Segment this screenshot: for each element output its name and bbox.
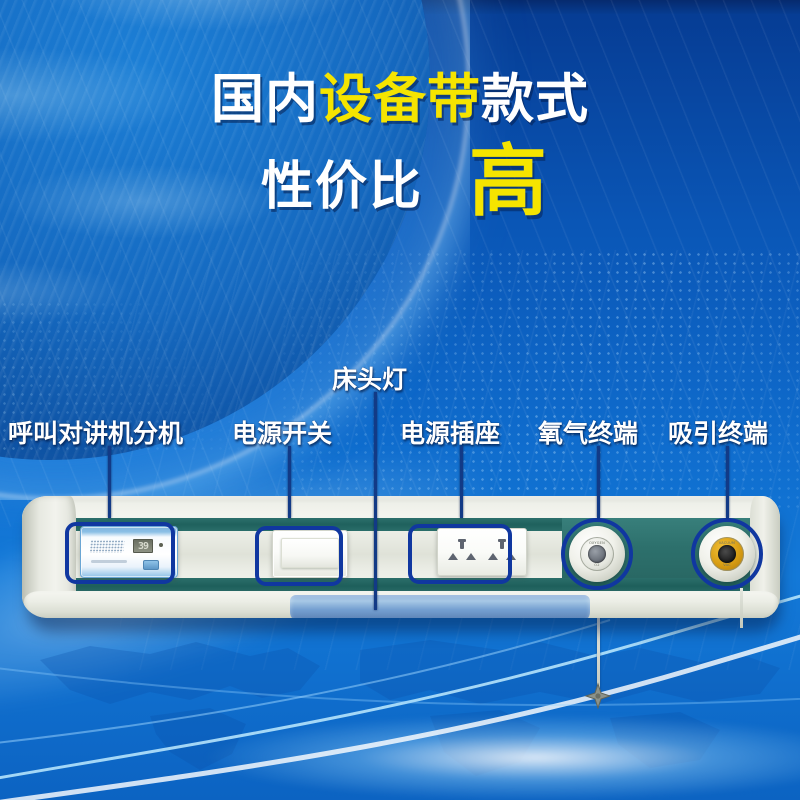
callout-label-power-outlet: 电源插座 <box>400 414 500 450</box>
leader-line-suction <box>726 446 729 518</box>
banner-stage: 国内设备带款式 性价比 高 呼叫对讲机分机 电源开关 床头灯 电源插座 氧气终端… <box>0 0 800 800</box>
callout-label-oxygen: 氧气终端 <box>538 414 638 450</box>
callout-label-power-switch: 电源开关 <box>232 414 332 450</box>
leader-line-intercom <box>108 446 111 518</box>
callout-label-intercom: 呼叫对讲机分机 <box>8 414 183 450</box>
callout-layer: 呼叫对讲机分机 电源开关 床头灯 电源插座 氧气终端 吸引终端 <box>0 0 800 800</box>
callout-label-suction: 吸引终端 <box>668 414 768 450</box>
leader-line-bed-lamp <box>374 392 377 610</box>
leader-line-power-outlet <box>460 446 463 518</box>
leader-line-oxygen <box>597 446 600 518</box>
callout-label-bed-lamp: 床头灯 <box>332 360 407 396</box>
leader-line-power-switch <box>288 446 291 518</box>
